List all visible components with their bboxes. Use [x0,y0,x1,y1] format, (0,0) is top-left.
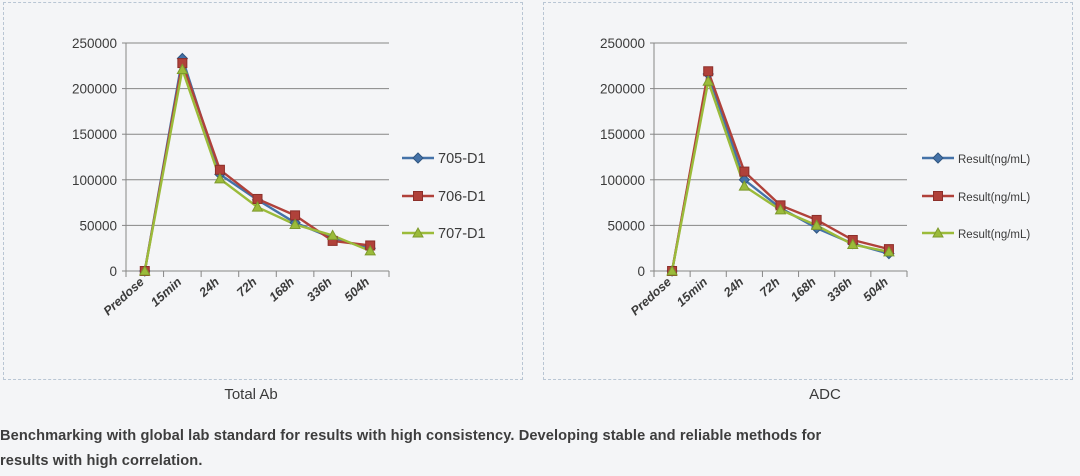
chart-captions: Total Ab ADC [0,386,1080,412]
footer-line-2: results with high correlation. [0,449,1080,474]
x-axis-tick-label: 168h [267,275,298,305]
legend-item: 706-D1 [402,189,486,205]
legend-item: 707-D1 [402,226,486,242]
legend-item: Result(ng/mL) [922,153,1030,166]
legend-marker [414,192,423,201]
adc-line-chart: 050000100000150000200000250000Predose15m… [544,3,1072,379]
y-axis-tick-label: 250000 [600,36,645,51]
footer-line-1: Benchmarking with global lab standard fo… [0,424,1080,449]
x-axis-tick-label: Predose [101,275,147,318]
x-axis-tick-label: 504h [342,275,373,305]
y-axis-tick-label: 200000 [600,82,645,97]
legend-label: Result(ng/mL) [958,154,1030,166]
x-axis-tick-label: 72h [757,275,783,300]
x-axis-tick-label: 72h [234,275,260,300]
series-marker [704,67,713,76]
y-axis-tick-label: 150000 [72,127,117,142]
legend-marker [934,192,943,201]
footer-description: Benchmarking with global lab standard fo… [0,424,1080,474]
y-axis-tick-label: 250000 [72,36,117,51]
x-axis-tick-label: 336h [304,275,335,305]
y-axis-tick-label: 150000 [600,127,645,142]
y-axis-tick-label: 200000 [72,82,117,97]
legend-label: 706-D1 [438,189,486,205]
y-axis-tick-label: 50000 [607,218,645,233]
legend-marker [413,153,423,163]
y-axis-tick-label: 50000 [79,218,117,233]
y-axis-tick-label: 0 [109,264,117,279]
caption-adc: ADC [790,386,860,403]
x-axis-tick-label: Predose [628,275,674,318]
caption-total-ab: Total Ab [205,386,297,403]
charts-row: 050000100000150000200000250000Predose15m… [0,0,1080,380]
x-axis-tick-label: 15min [148,275,184,310]
x-axis-tick-label: 504h [860,275,891,305]
legend-item: 705-D1 [402,151,486,167]
series-marker [740,167,749,176]
legend-label: Result(ng/mL) [958,192,1030,204]
x-axis-tick-label: 168h [788,275,819,305]
x-axis-tick-label: 24h [720,275,746,301]
x-axis-tick-label: 15min [674,275,710,310]
x-axis-tick-label: 24h [196,275,222,301]
x-axis-tick-label: 336h [824,275,855,305]
legend-item: Result(ng/mL) [922,228,1030,241]
chart-panel-total-ab: 050000100000150000200000250000Predose15m… [3,2,523,380]
y-axis-tick-label: 100000 [72,173,117,188]
legend-label: 705-D1 [438,151,486,167]
legend-label: Result(ng/mL) [958,229,1030,241]
y-axis-tick-label: 0 [637,264,645,279]
legend-label: 707-D1 [438,226,486,242]
legend-item: Result(ng/mL) [922,192,1030,205]
legend-marker [933,153,943,163]
total-ab-line-chart: 050000100000150000200000250000Predose15m… [4,3,522,379]
chart-panel-adc: 050000100000150000200000250000Predose15m… [543,2,1073,380]
y-axis-tick-label: 100000 [600,173,645,188]
